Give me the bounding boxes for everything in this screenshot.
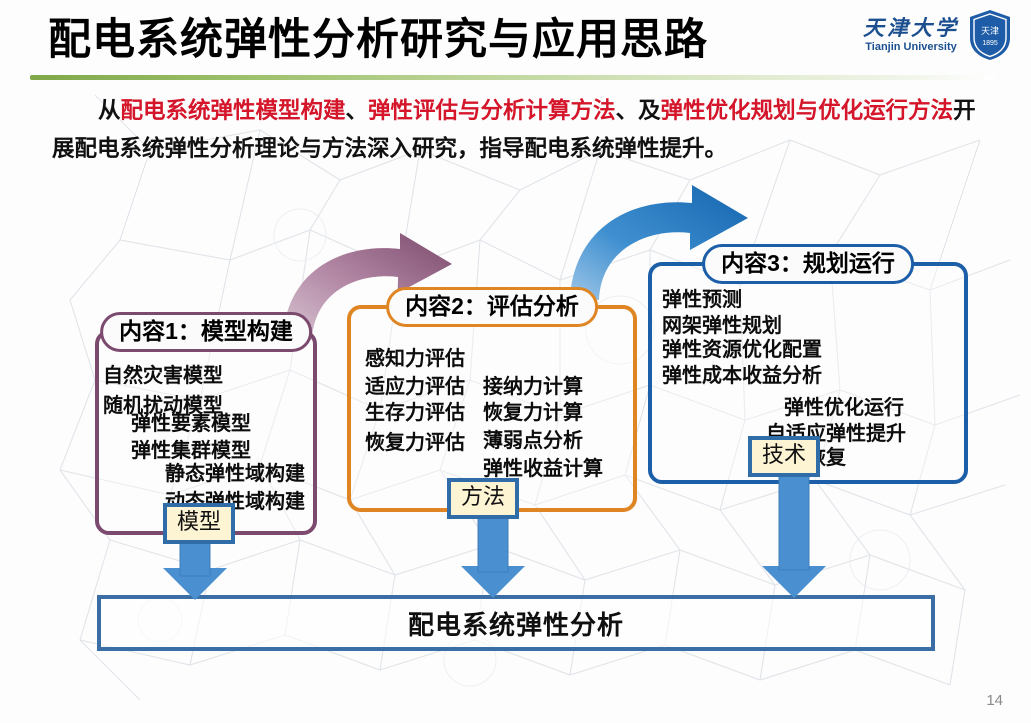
lead-seg-3: 、及	[616, 98, 661, 123]
page-title: 配电系统弹性分析研究与应用思路	[48, 12, 708, 68]
page-number: 14	[986, 692, 1003, 709]
box3-top-item-2: 弹性资源优化配置	[662, 338, 822, 362]
box3-tag-technology[interactable]: 技术	[748, 436, 820, 477]
box2-left-item-3: 恢复力评估	[365, 431, 465, 455]
box1-tag-model[interactable]: 模型	[163, 503, 235, 544]
summary-bar[interactable]: 配电系统弹性分析	[97, 595, 935, 651]
svg-text:1895: 1895	[982, 40, 998, 47]
box2-right-item-0: 接纳力计算	[483, 375, 583, 399]
content-box-3-title: 内容3：规划运行	[702, 244, 914, 284]
lead-seg-1: 从	[98, 98, 121, 123]
lead-highlight-3: 弹性优化规划与优化运行方法	[661, 98, 954, 123]
box3-bottom-item-0: 弹性优化运行	[784, 396, 904, 420]
box3-top-item-0: 弹性预测	[662, 288, 742, 312]
box3-top-item-3: 弹性成本收益分析	[662, 364, 822, 388]
logo-chinese-name: 天津大学	[863, 16, 959, 40]
lead-paragraph: 从配电系统弹性模型构建、弹性评估与分析计算方法、及弹性优化规划与优化运行方法开展…	[52, 92, 992, 168]
logo-text: 天津大学 Tianjin University	[863, 16, 959, 54]
box2-tag-method[interactable]: 方法	[447, 478, 519, 519]
box1-item-0: 自然灾害模型	[103, 364, 223, 388]
content-box-2-title: 内容2：评估分析	[386, 287, 598, 327]
box2-left-item-2: 生存力评估	[365, 401, 465, 425]
svg-text:天津: 天津	[981, 26, 999, 36]
logo-english-name: Tianjin University	[863, 40, 959, 54]
summary-bar-label: 配电系统弹性分析	[408, 605, 624, 642]
shield-emblem-icon: 天津 1895	[967, 8, 1013, 62]
lead-seg-2: 、	[346, 98, 369, 123]
box1-item-3: 弹性集群模型	[131, 439, 251, 463]
box2-left-item-0: 感知力评估	[365, 347, 465, 371]
university-logo: 天津大学 Tianjin University 天津 1895	[863, 8, 1013, 62]
box1-item-2: 弹性要素模型	[131, 412, 251, 436]
box3-top-item-1: 网架弹性规划	[662, 314, 782, 338]
blue-down-arrow-icon-3	[762, 470, 826, 598]
box2-left-item-1: 适应力评估	[365, 375, 465, 399]
lead-highlight-1: 配电系统弹性模型构建	[121, 98, 346, 123]
lead-highlight-2: 弹性评估与分析计算方法	[368, 98, 616, 123]
content-box-1-title: 内容1：模型构建	[100, 312, 312, 352]
box2-right-item-2: 薄弱点分析	[483, 429, 583, 453]
slide-canvas: 配电系统弹性分析研究与应用思路 天津大学 Tianjin University …	[0, 0, 1031, 723]
title-underline-rule	[30, 75, 995, 80]
box2-right-item-1: 恢复力计算	[483, 401, 583, 425]
box1-item-4: 静态弹性域构建	[165, 462, 305, 486]
